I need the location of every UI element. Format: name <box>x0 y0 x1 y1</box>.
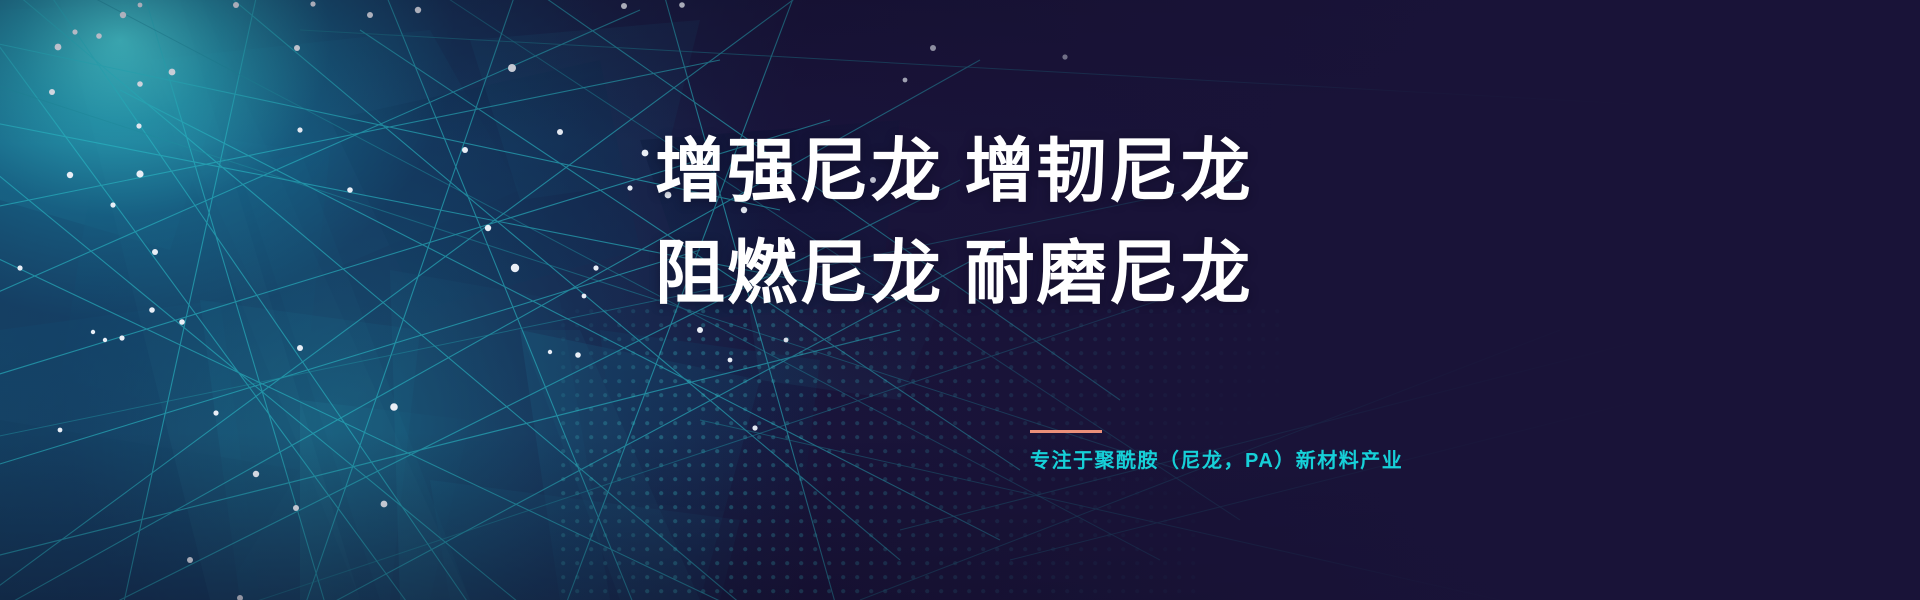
subtitle-text: 专注于聚酰胺（尼龙，PA）新材料产业 <box>1030 451 1490 471</box>
subtitle-block: 专注于聚酰胺（尼龙，PA）新材料产业 <box>1030 430 1490 471</box>
hero-banner: 增强尼龙 增韧尼龙 阻燃尼龙 耐磨尼龙 专注于聚酰胺（尼龙，PA）新材料产业 <box>0 0 1920 600</box>
headline-line-1: 增强尼龙 增韧尼龙 <box>655 136 1252 206</box>
accent-rule-divider <box>1030 430 1102 433</box>
banner-content: 增强尼龙 增韧尼龙 阻燃尼龙 耐磨尼龙 专注于聚酰胺（尼龙，PA）新材料产业 <box>0 0 1920 600</box>
headline-line-2: 阻燃尼龙 耐磨尼龙 <box>655 238 1252 308</box>
